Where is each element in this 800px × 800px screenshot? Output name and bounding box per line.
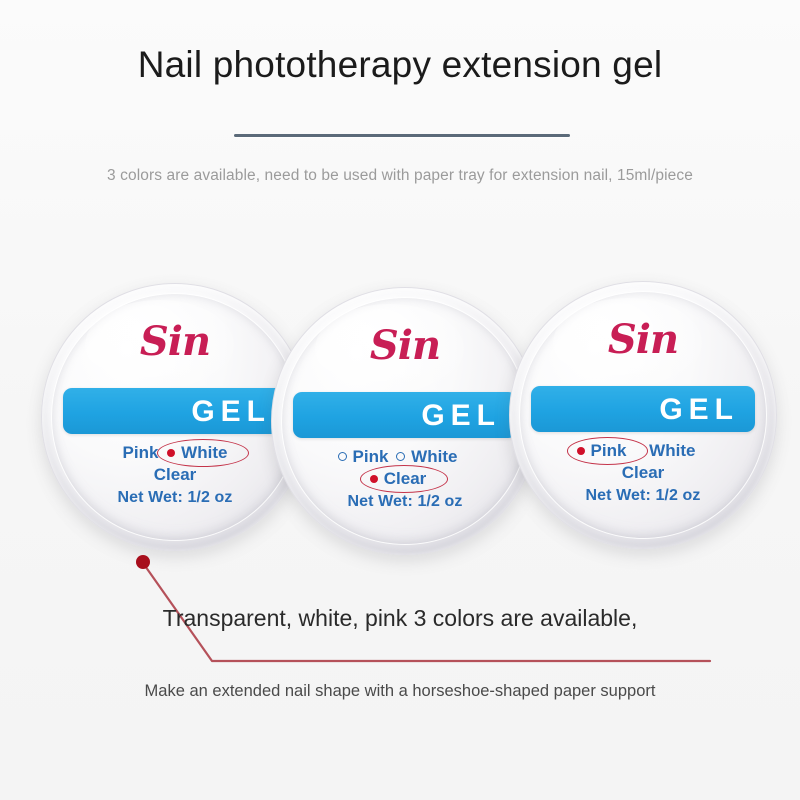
gel-jar-pink[interactable]: Sin GEL Pink White Clear	[509, 281, 777, 549]
gel-jar-white[interactable]: Sin GEL Pink White Clear	[41, 283, 309, 551]
jar-label: Sin GEL Pink White Clear	[42, 284, 308, 550]
option-row: Pink White	[510, 440, 776, 462]
option-row: Pink White	[272, 446, 538, 468]
option-pink[interactable]: Pink	[120, 442, 162, 464]
jar-label: Sin GEL Pink White Clear	[510, 282, 776, 548]
page-subtitle: 3 colors are available, need to be used …	[0, 167, 800, 185]
option-label: White	[181, 443, 227, 462]
option-label: Clear	[384, 469, 427, 488]
brand-script-logo: Sin	[272, 322, 538, 369]
option-label: Clear	[154, 465, 197, 484]
product-infographic: Nail phototherapy extension gel 3 colors…	[0, 0, 800, 800]
brand-script-logo: Sin	[510, 316, 776, 363]
color-options: Pink White Clear Net Wet: 1/2 oz	[42, 442, 308, 509]
caption-secondary: Make an extended nail shape with a horse…	[0, 682, 800, 701]
option-white[interactable]: White	[646, 440, 698, 462]
option-pink[interactable]: Pink	[350, 446, 392, 468]
gel-band: GEL	[531, 386, 755, 432]
color-options: Pink White Clear Net Wet: 1/2 oz	[510, 440, 776, 507]
gel-band: GEL	[63, 388, 287, 434]
net-weight: Net Wet: 1/2 oz	[42, 487, 308, 509]
brand-script-logo: Sin	[42, 318, 308, 365]
gel-band: GEL	[293, 392, 517, 438]
gel-band-text: GEL	[659, 393, 739, 427]
net-weight: Net Wet: 1/2 oz	[272, 491, 538, 513]
option-clear[interactable]: Clear	[381, 468, 430, 490]
option-label: White	[649, 441, 695, 460]
gel-band-text: GEL	[191, 395, 271, 429]
option-label: Pink	[123, 443, 159, 462]
option-clear[interactable]: Clear	[151, 464, 200, 486]
net-weight: Net Wet: 1/2 oz	[510, 485, 776, 507]
option-label: Pink	[353, 447, 389, 466]
title-divider	[234, 134, 570, 137]
option-white[interactable]: White	[408, 446, 460, 468]
option-clear[interactable]: Clear	[619, 462, 668, 484]
callout-anchor-dot	[136, 555, 150, 569]
option-label: Pink	[591, 441, 627, 460]
caption-primary: Transparent, white, pink 3 colors are av…	[0, 605, 800, 632]
jar-label: Sin GEL Pink White Clear	[272, 288, 538, 554]
color-options: Pink White Clear Net Wet: 1/2 oz	[272, 446, 538, 513]
option-white[interactable]: White	[178, 442, 230, 464]
option-label: White	[411, 447, 457, 466]
option-row: Clear	[42, 464, 308, 486]
option-row: Clear	[510, 462, 776, 484]
option-row: Pink White	[42, 442, 308, 464]
gel-jar-clear[interactable]: Sin GEL Pink White Clear	[271, 287, 539, 555]
gel-band-text: GEL	[421, 399, 501, 433]
option-row: Clear	[272, 468, 538, 490]
page-title: Nail phototherapy extension gel	[0, 44, 800, 86]
option-pink[interactable]: Pink	[588, 440, 630, 462]
option-label: Clear	[622, 463, 665, 482]
